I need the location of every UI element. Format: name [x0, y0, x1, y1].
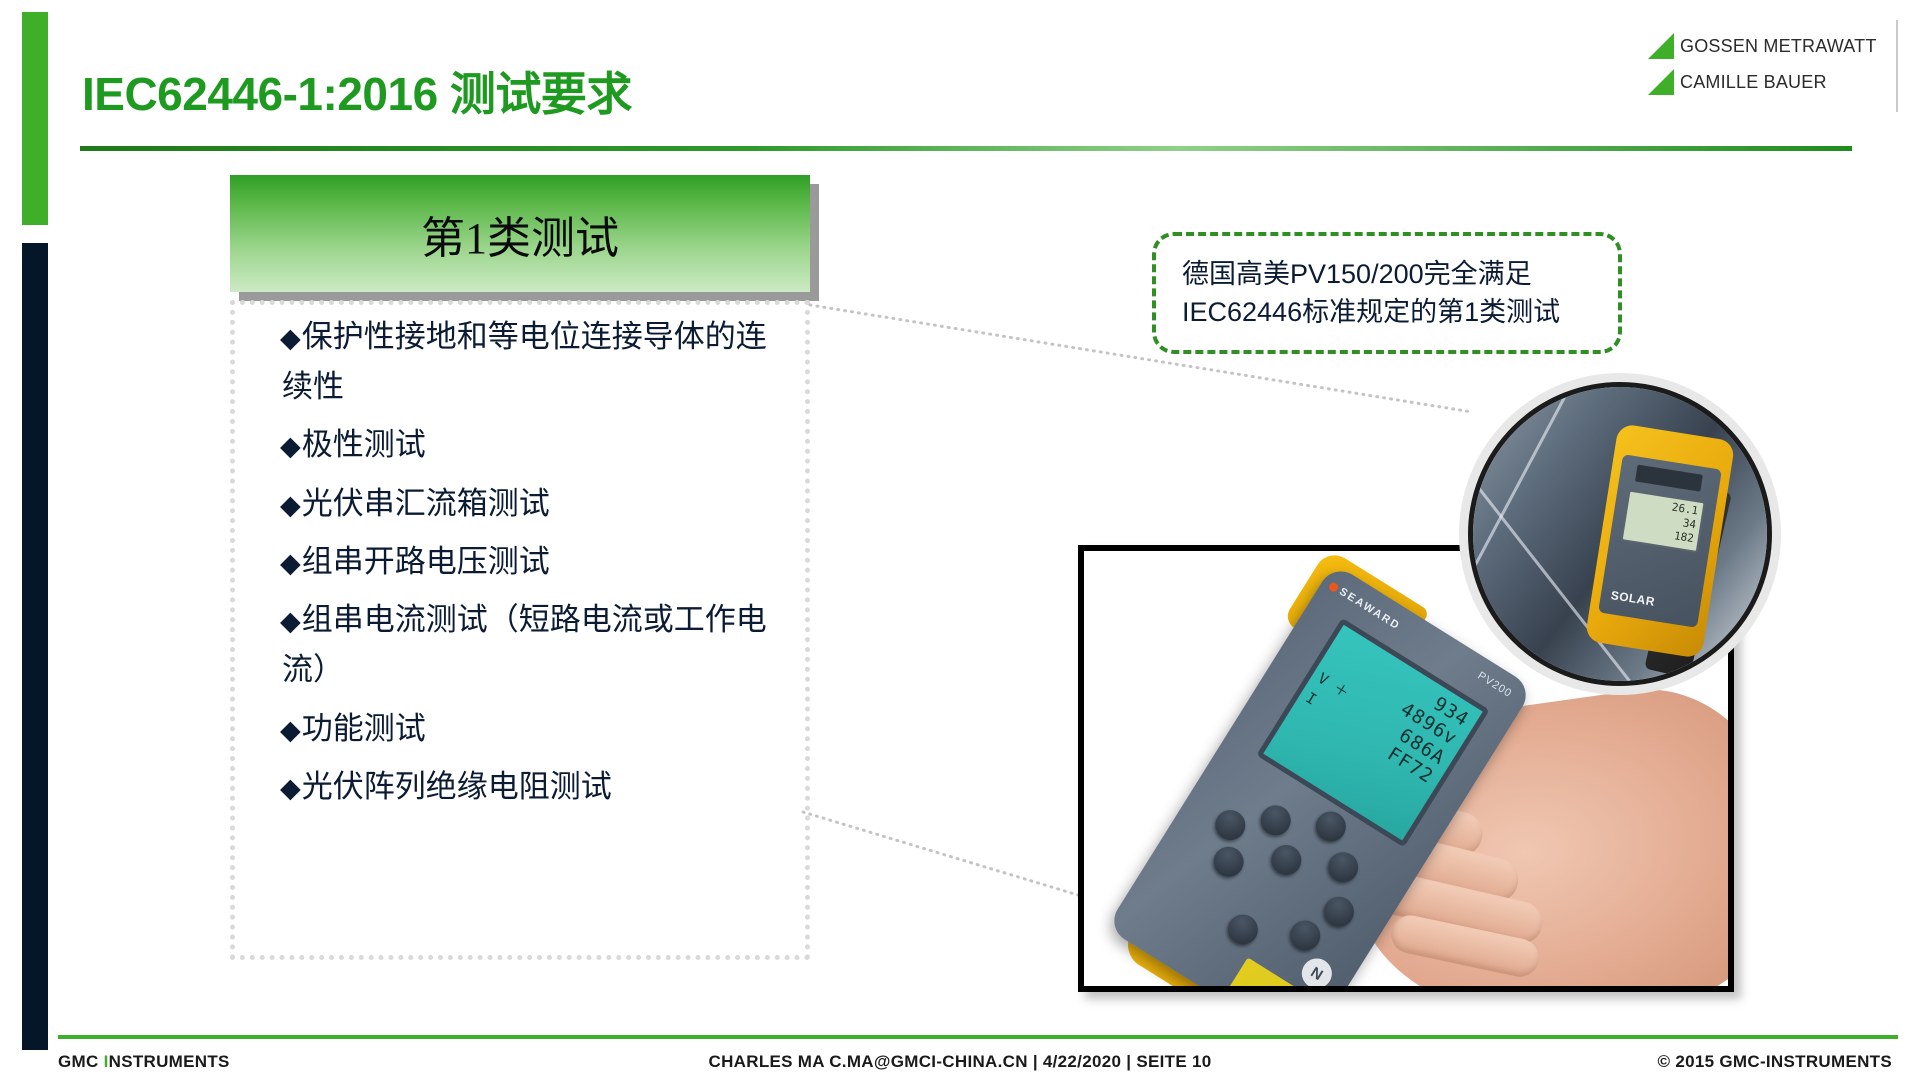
solar-meter-lcd: 26.1 34 182 — [1621, 489, 1706, 553]
banner-body: 第1类测试 — [230, 175, 810, 292]
footer-brand: GMC INSTRUMENTS — [58, 1052, 230, 1072]
page-title: IEC62446-1:2016 测试要求 — [82, 58, 632, 124]
diamond-bullet-icon: ◆ — [280, 715, 301, 745]
inset-circle-photo: 26.1 34 182 SOLAR — [1468, 382, 1772, 686]
diamond-bullet-icon: ◆ — [280, 323, 301, 353]
diamond-bullet-icon: ◆ — [280, 773, 301, 803]
list-item: ◆功能测试 — [282, 704, 792, 754]
lcd-readout-values: 934 4896v 686A FF72 — [1373, 680, 1473, 789]
left-rail-green — [22, 12, 48, 225]
diamond-bullet-icon: ◆ — [280, 548, 301, 578]
list-item-label: 功能测试 — [302, 711, 426, 746]
keypad-button — [1208, 841, 1249, 882]
solar-brand-label: SOLAR — [1610, 588, 1656, 609]
footer-meta: CHARLES MA C.MA@GMCI-CHINA.CN | 4/22/202… — [709, 1052, 1212, 1072]
keypad-button — [1310, 806, 1351, 847]
brand-dot-icon — [1327, 581, 1339, 593]
lcd-readout-labels: V ＋ I — [1301, 667, 1353, 723]
connector-line-bottom — [803, 812, 1078, 895]
list-item-label: 极性测试 — [302, 427, 426, 462]
logo-row-camille-bauer: CAMILLE BAUER — [1648, 64, 1888, 100]
keypad-button — [1285, 915, 1326, 956]
list-item: ◆组串电流测试（短路电流或工作电流） — [282, 595, 792, 695]
keypad-button — [1266, 839, 1307, 880]
list-item: ◆组串开路电压测试 — [282, 537, 792, 587]
category-banner: 第1类测试 — [230, 175, 810, 292]
list-item-label: 组串开路电压测试 — [302, 544, 550, 579]
diamond-bullet-icon: ◆ — [280, 606, 301, 636]
logo-label-gossen-metrawatt: GOSSEN METRAWATT — [1680, 36, 1877, 57]
list-item: ◆保护性接地和等电位连接导体的连续性 — [282, 312, 792, 412]
footer-brand-suffix: NSTRUMENTS — [109, 1052, 230, 1071]
triangle-icon — [1648, 69, 1674, 95]
list-item-label: 组串电流测试（短路电流或工作电流） — [282, 602, 767, 687]
list-item-label: 光伏阵列绝缘电阻测试 — [302, 769, 612, 804]
requirements-list: ◆保护性接地和等电位连接导体的连续性 ◆极性测试 ◆光伏串汇流箱测试 ◆组串开路… — [282, 312, 792, 820]
diamond-bullet-icon: ◆ — [280, 431, 301, 461]
logo-row-gossen-metrawatt: GOSSEN METRAWATT — [1648, 28, 1888, 64]
logo-divider — [1896, 20, 1898, 112]
list-item-label: 光伏串汇流箱测试 — [302, 486, 550, 521]
connector-line-top — [810, 305, 1472, 412]
diamond-bullet-icon: ◆ — [280, 490, 301, 520]
list-item: ◆光伏阵列绝缘电阻测试 — [282, 762, 792, 812]
list-item: ◆极性测试 — [282, 420, 792, 470]
keypad-button — [1322, 847, 1363, 888]
keypad-button — [1210, 804, 1251, 845]
triangle-icon — [1648, 33, 1674, 59]
footer-brand-prefix: GMC — [58, 1052, 104, 1071]
list-item: ◆光伏串汇流箱测试 — [282, 479, 792, 529]
footer-divider — [58, 1035, 1898, 1039]
brand-logo: GOSSEN METRAWATT CAMILLE BAUER — [1648, 28, 1888, 100]
footer-copyright: © 2015 GMC-INSTRUMENTS — [1658, 1052, 1893, 1072]
keypad-button — [1222, 909, 1263, 950]
keypad-button — [1255, 800, 1296, 841]
title-underline — [80, 146, 1852, 151]
keypad-button — [1318, 891, 1359, 932]
meter-vent — [1635, 465, 1703, 492]
list-item-label: 保护性接地和等电位连接导体的连续性 — [282, 319, 767, 404]
logo-label-camille-bauer: CAMILLE BAUER — [1680, 72, 1827, 93]
banner-label: 第1类测试 — [421, 202, 619, 266]
left-rail-dark — [22, 243, 48, 1050]
